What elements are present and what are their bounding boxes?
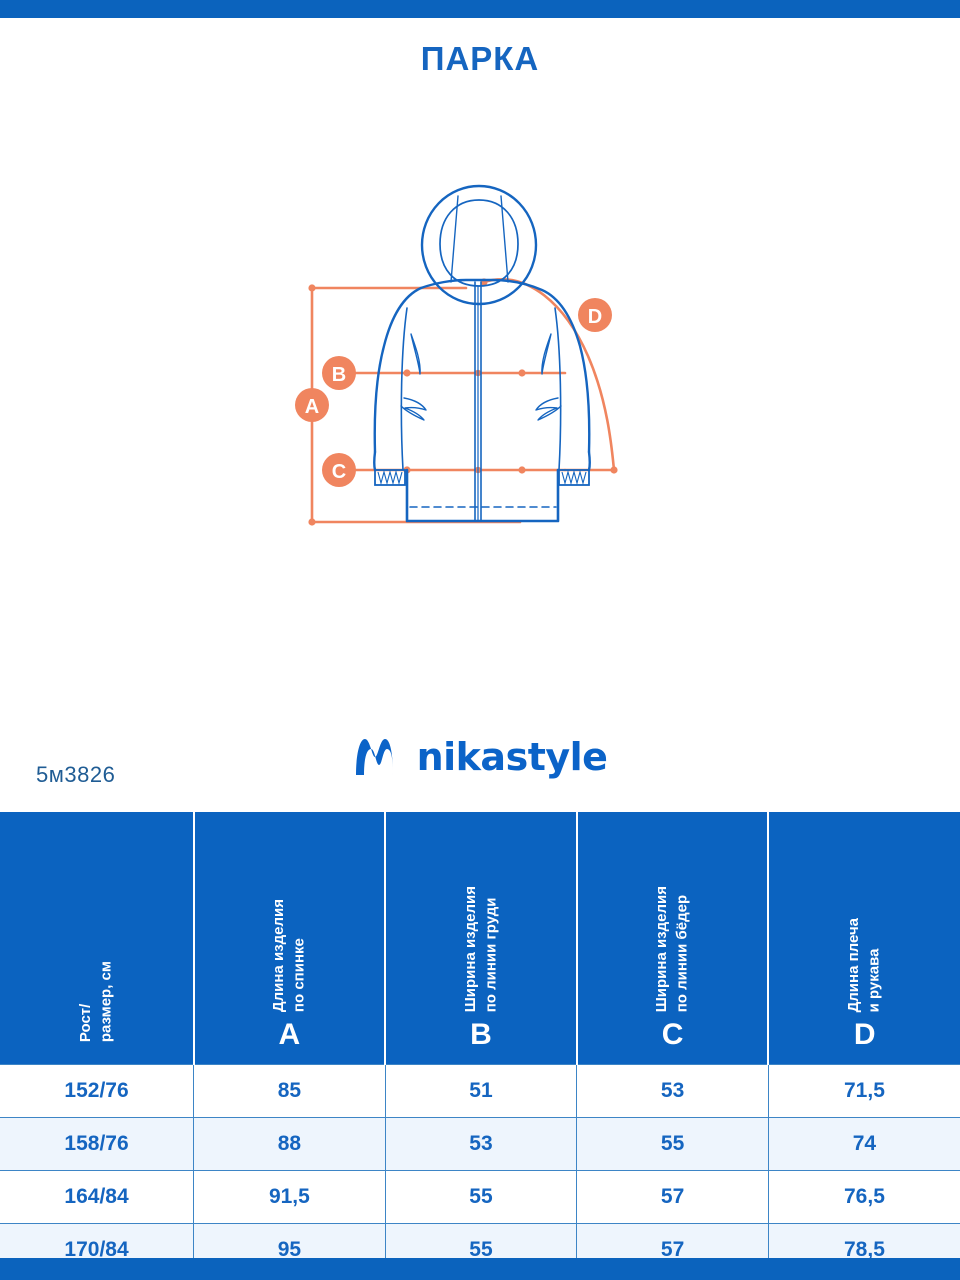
- svg-text:D: D: [588, 306, 602, 328]
- logo-wordmark: nikastyle: [417, 735, 608, 779]
- col-header-d: Длина плеча и рукава D: [768, 812, 960, 1065]
- cell-a: 91,5: [194, 1171, 386, 1224]
- col-header-letter: C: [662, 1020, 684, 1050]
- bottom-accent-bar: [0, 1258, 960, 1280]
- cell-b: 51: [385, 1065, 577, 1118]
- cuff-right: [559, 470, 589, 485]
- cell-size: 152/76: [0, 1065, 194, 1118]
- col-header-caption: Длина изделия по спинке: [269, 899, 310, 1012]
- svg-text:A: A: [305, 396, 319, 418]
- col-header-a: Длина изделия по спинке A: [194, 812, 386, 1065]
- brand-logo: nikastyle: [0, 735, 960, 779]
- col-header-caption: Длина плеча и рукава: [844, 918, 885, 1012]
- col-header-letter: A: [279, 1020, 301, 1050]
- cell-c: 55: [577, 1118, 769, 1171]
- cell-a: 88: [194, 1118, 386, 1171]
- marker-c: C: [322, 453, 356, 487]
- top-accent-bar: [0, 0, 960, 18]
- col-header-caption: Рост/ размер, см: [76, 961, 117, 1042]
- page-title: ПАРКА: [0, 40, 960, 78]
- table-row: 152/76 85 51 53 71,5: [0, 1065, 960, 1118]
- col-header-caption: Ширина изделия по линии груди: [461, 886, 502, 1012]
- table-row: 158/76 88 53 55 74: [0, 1118, 960, 1171]
- marker-b: B: [322, 356, 356, 390]
- cell-b: 53: [385, 1118, 577, 1171]
- marker-a: A: [295, 388, 329, 422]
- cell-d: 76,5: [768, 1171, 960, 1224]
- cell-a: 85: [194, 1065, 386, 1118]
- cell-size: 158/76: [0, 1118, 194, 1171]
- col-header-letter: D: [854, 1020, 876, 1050]
- cell-size: 164/84: [0, 1171, 194, 1224]
- cuff-left: [375, 470, 405, 485]
- wave-m-icon: [353, 735, 405, 779]
- col-header-caption: Ширина изделия по линии бёдер: [652, 886, 693, 1012]
- table-row: 164/84 91,5 55 57 76,5: [0, 1171, 960, 1224]
- size-table: Рост/ размер, см Длина изделия по спинке…: [0, 812, 960, 1277]
- marker-d: D: [578, 298, 612, 332]
- cell-c: 57: [577, 1171, 769, 1224]
- cell-b: 55: [385, 1171, 577, 1224]
- cell-d: 74: [768, 1118, 960, 1171]
- measure-lines: [308, 278, 617, 525]
- svg-text:B: B: [332, 364, 346, 386]
- svg-text:C: C: [332, 461, 346, 483]
- col-header-c: Ширина изделия по линии бёдер C: [577, 812, 769, 1065]
- table-header-row: Рост/ размер, см Длина изделия по спинке…: [0, 812, 960, 1065]
- cell-c: 53: [577, 1065, 769, 1118]
- col-header-b: Ширина изделия по линии груди B: [385, 812, 577, 1065]
- garment-diagram: A B C D: [270, 170, 690, 570]
- col-header-letter: B: [470, 1020, 492, 1050]
- col-header-size: Рост/ размер, см: [0, 812, 194, 1065]
- cell-d: 71,5: [768, 1065, 960, 1118]
